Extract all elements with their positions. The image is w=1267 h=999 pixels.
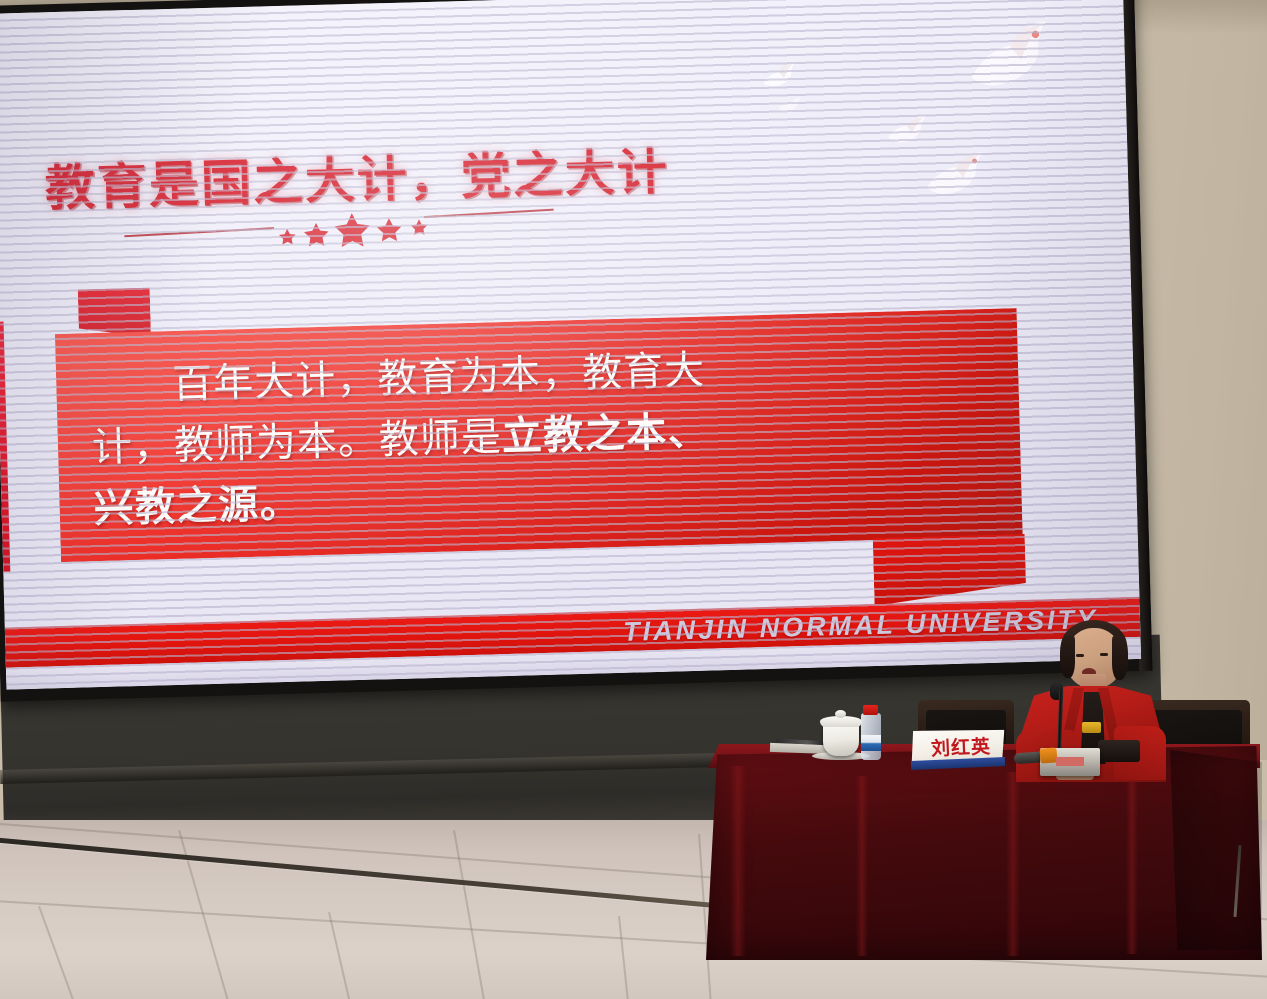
dove-icon bbox=[757, 58, 803, 94]
teacup-lid-knob bbox=[835, 710, 846, 718]
red-ribbon-banner: 百年大计，教育为本，教育大 计，教师为本。教师是立教之本、 兴教之源。 bbox=[0, 263, 1065, 632]
water-bottle-cap bbox=[863, 705, 878, 715]
ribbon-quote-text: 百年大计，教育为本，教育大 计，教师为本。教师是立教之本、 兴教之源。 bbox=[55, 308, 1023, 562]
desk-device bbox=[1098, 740, 1140, 762]
dove-icon bbox=[919, 148, 992, 202]
dove-icon bbox=[776, 95, 804, 116]
slide-canvas: 教育是国之大计，党之大计 bbox=[0, 0, 1141, 690]
dove-icon bbox=[958, 14, 1063, 98]
name-card-text: 刘红英 bbox=[918, 731, 1003, 761]
water-bottle-label bbox=[861, 735, 881, 751]
handheld-microphone-grip bbox=[1039, 747, 1057, 763]
microphone-base-label bbox=[1056, 757, 1084, 766]
teacup bbox=[823, 723, 859, 756]
speaker-hair-right bbox=[1112, 636, 1128, 680]
speaker-eye-right bbox=[1100, 653, 1108, 656]
speaker-hair-left bbox=[1060, 636, 1075, 678]
tablecloth-right-drape bbox=[1170, 750, 1262, 950]
led-display-screen: 教育是国之大计，党之大计 bbox=[0, 0, 1152, 702]
screen-surface: 教育是国之大计，党之大计 bbox=[0, 0, 1141, 690]
presentation-photo-scene: 教育是国之大计，党之大计 bbox=[0, 0, 1267, 999]
speaker-eye-left bbox=[1076, 654, 1084, 657]
speaker-badge bbox=[1082, 722, 1101, 733]
dove-icon bbox=[882, 111, 933, 149]
floor-cable bbox=[0, 837, 767, 913]
ribbon-tail-bottom-right bbox=[873, 534, 1027, 606]
